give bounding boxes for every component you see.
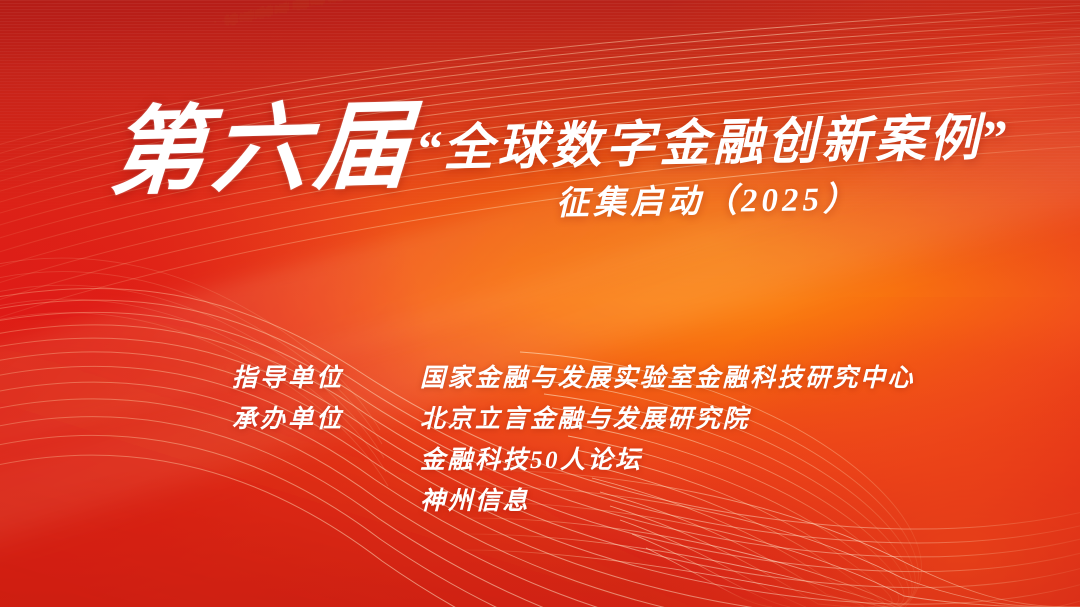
title-subtitle: 征集启动（2025） (556, 184, 860, 222)
poster-canvas: 第六届 “全球数字金融创新案例” 征集启动（2025） 指导单位国家金融与发展实… (0, 0, 1080, 607)
background-line-texture (0, 0, 1080, 607)
